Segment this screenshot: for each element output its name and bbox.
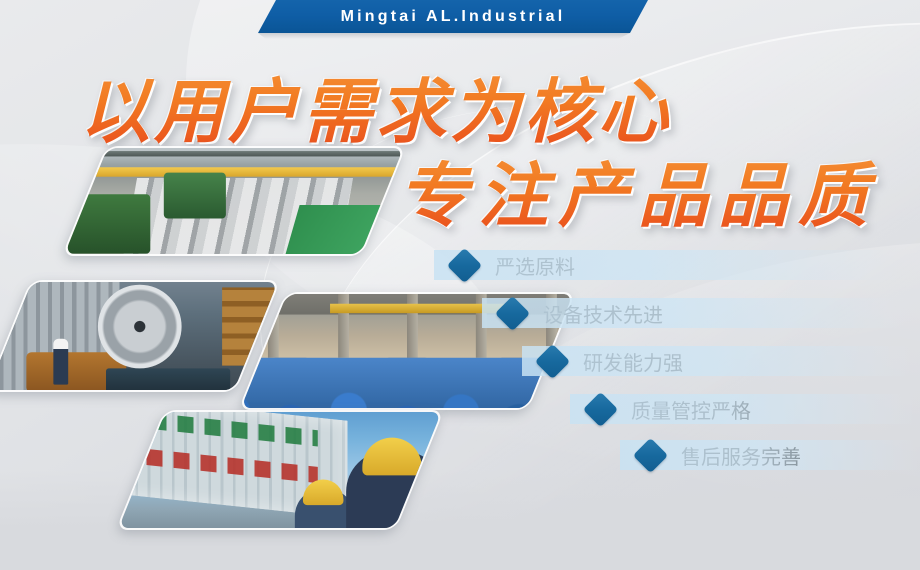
diamond-bullet-icon	[583, 391, 618, 426]
feature-label: 严选原料	[495, 251, 575, 280]
photo-content	[116, 410, 444, 530]
diamond-bullet-icon	[535, 343, 570, 378]
feature-label: 设备技术先进	[543, 299, 663, 328]
feature-item-5[interactable]: 售后服务完善	[638, 438, 801, 472]
feature-item-2[interactable]: 设备技术先进	[500, 296, 663, 330]
feature-label: 研发能力强	[583, 347, 683, 376]
photo-aluminium-rolling-workshop	[62, 146, 406, 256]
photo-content	[0, 280, 281, 392]
diamond-bullet-icon	[633, 437, 668, 472]
headline-line-2: 专注产品品质	[398, 140, 878, 241]
photo-workers-at-factory-signboard	[116, 410, 444, 530]
feature-item-3[interactable]: 研发能力强	[540, 344, 683, 378]
feature-band	[522, 346, 912, 376]
promo-banner: Mingtai AL.Industrial 以用户需求为核心 专注产品品质	[0, 0, 920, 570]
feature-label: 售后服务完善	[681, 441, 801, 470]
photo-content	[62, 146, 406, 256]
feature-item-1[interactable]: 严选原料	[452, 248, 575, 282]
diamond-bullet-icon	[447, 247, 482, 282]
brand-title: Mingtai AL.Industrial	[341, 8, 566, 26]
diamond-bullet-icon	[495, 295, 530, 330]
photo-aluminium-coil-warehouse	[0, 280, 281, 392]
header-ribbon-shadow	[258, 33, 630, 39]
feature-label: 质量管控严格	[631, 395, 751, 424]
feature-item-4[interactable]: 质量管控严格	[588, 392, 751, 426]
header-ribbon: Mingtai AL.Industrial	[258, 0, 648, 33]
